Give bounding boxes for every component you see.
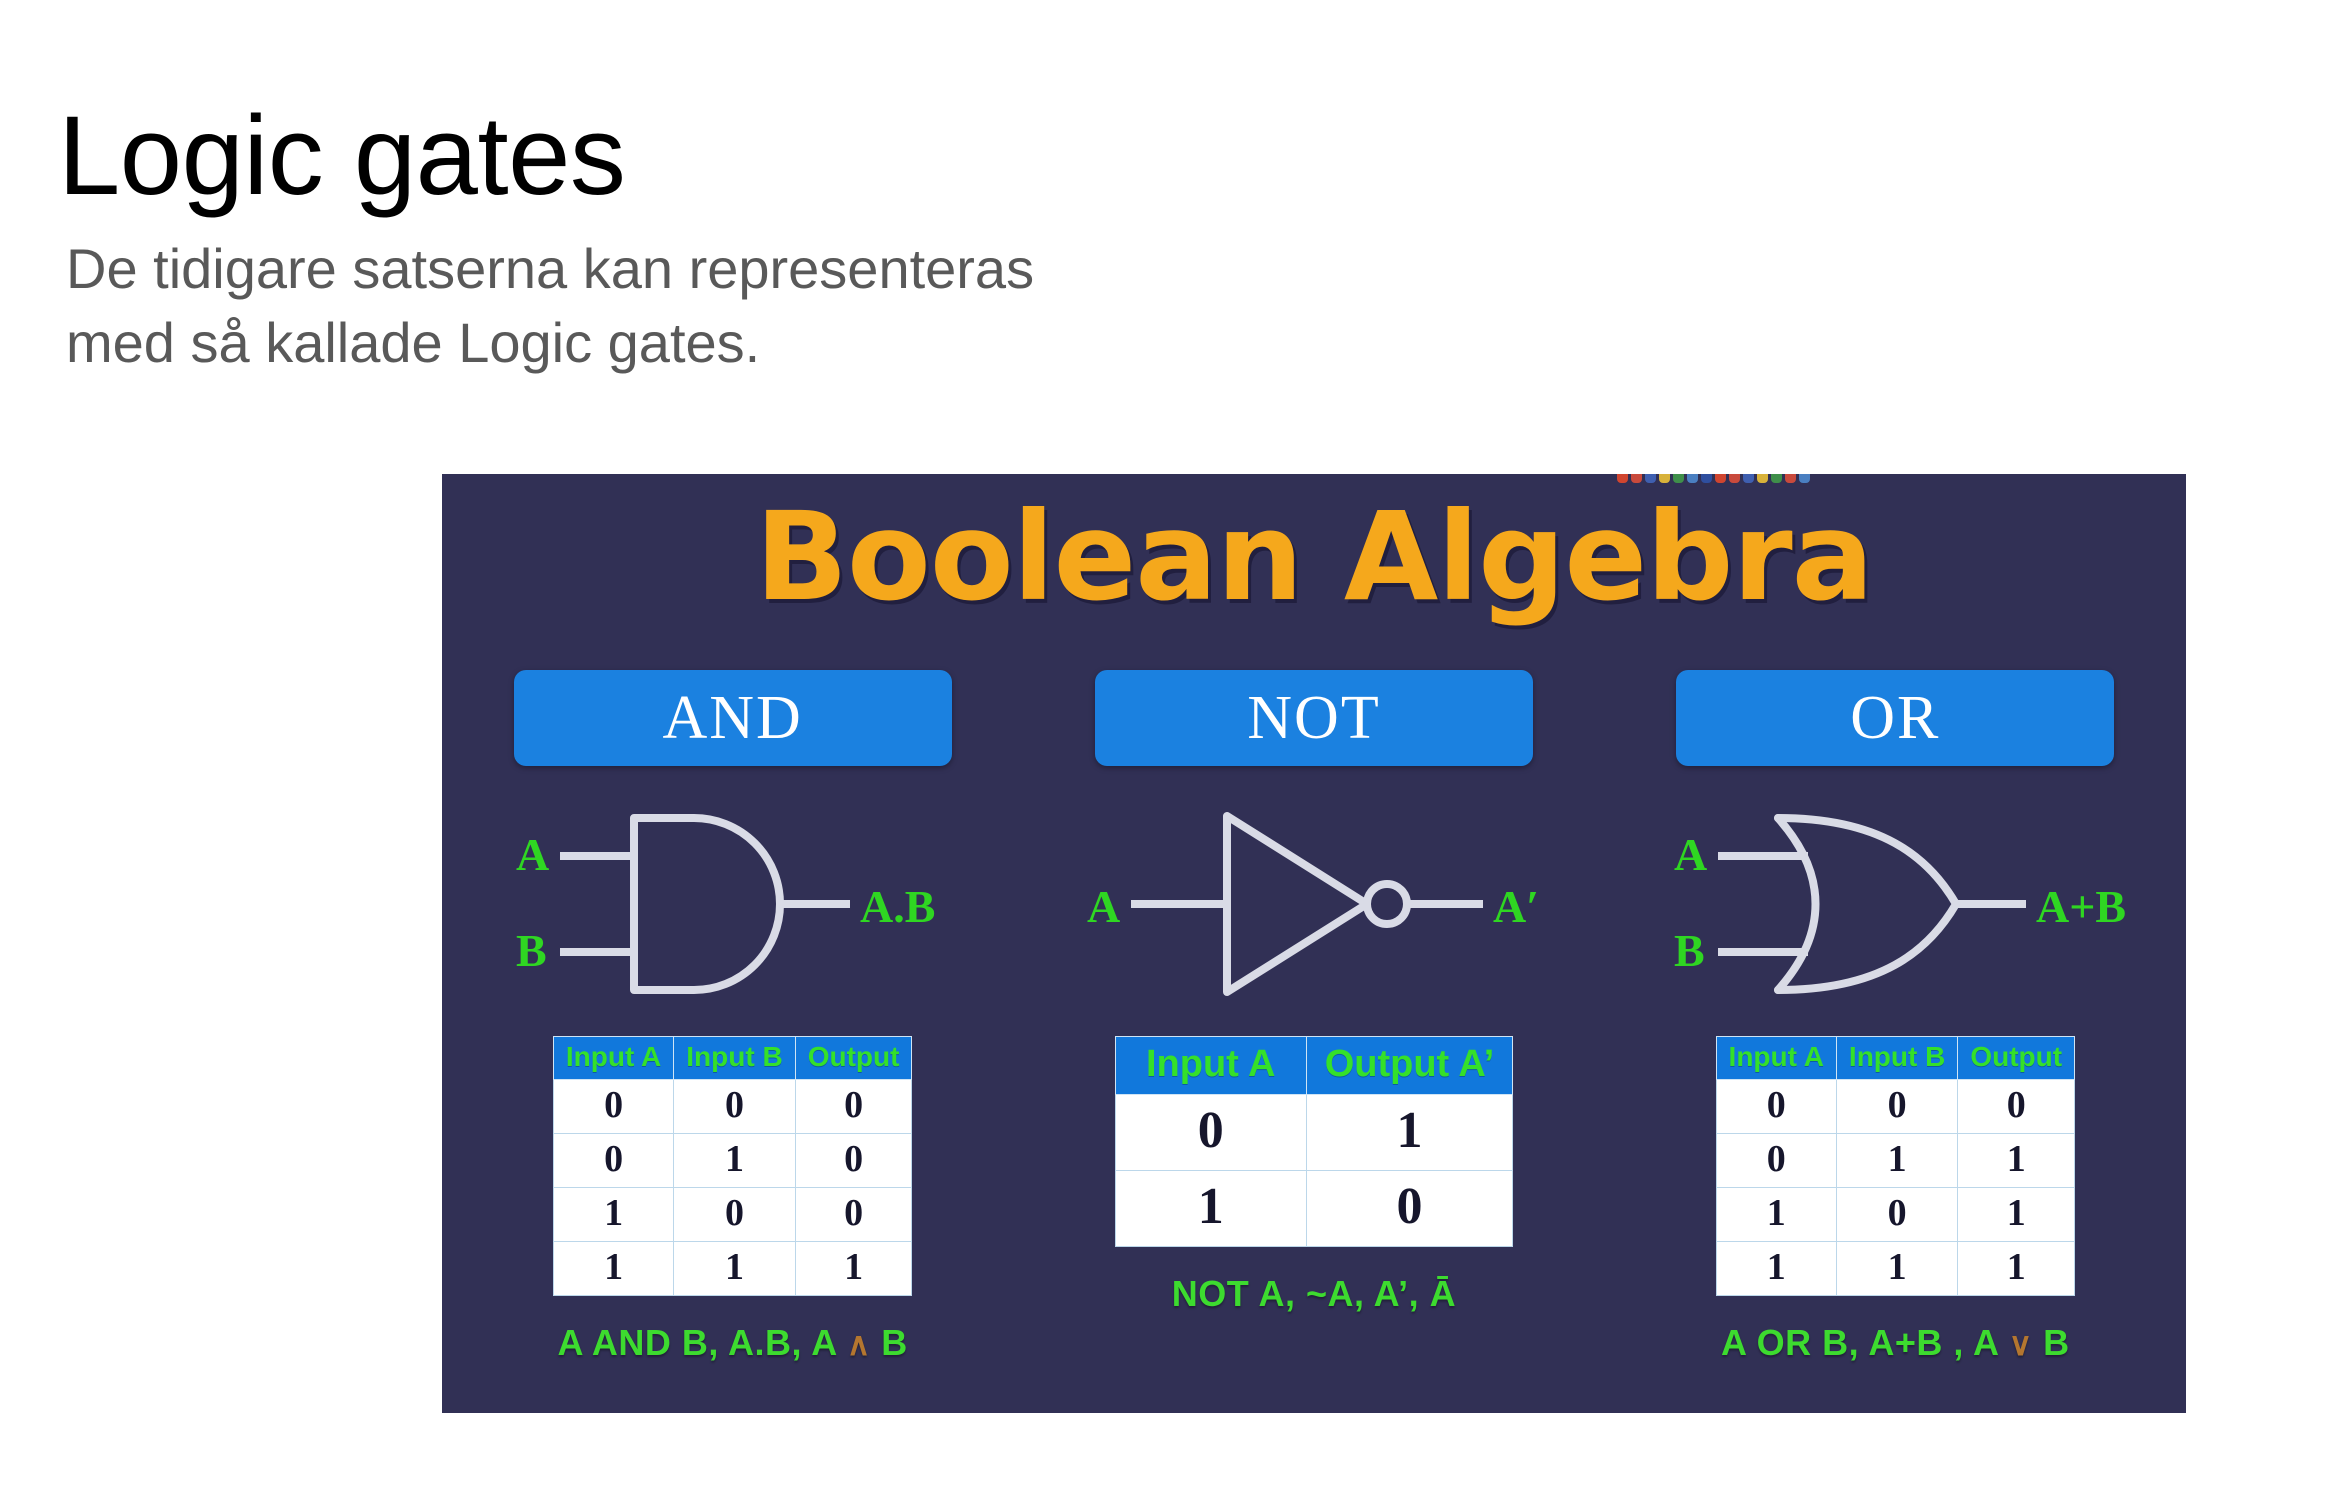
cell: 0 [1836, 1188, 1957, 1242]
table-row: 1 0 1 [1716, 1188, 2075, 1242]
cell: 0 [1716, 1080, 1836, 1134]
cell: 1 [1716, 1242, 1836, 1296]
or-truth-table: Input A Input B Output 0 0 0 0 [1716, 1036, 2076, 1296]
cell: 1 [1958, 1188, 2075, 1242]
table-header-row: Input A Output A’ [1115, 1037, 1513, 1095]
subtitle-line-2: med så kallade Logic gates. [66, 306, 1034, 380]
not-gate-diagram: A A′ [1079, 804, 1549, 1004]
cell: 1 [1306, 1095, 1513, 1171]
table-row: 1 0 [1115, 1171, 1513, 1247]
cell: 0 [1115, 1095, 1306, 1171]
cell: 1 [1958, 1134, 2075, 1188]
cell: 1 [553, 1188, 673, 1242]
cell: 0 [1958, 1080, 2075, 1134]
cell: 0 [795, 1188, 912, 1242]
table-header-row: Input A Input B Output [553, 1037, 912, 1080]
table-header-row: Input A Input B Output [1716, 1037, 2075, 1080]
gate-column-or: OR A B A+B Input A [1605, 670, 2186, 1413]
not-input-a-label: A [1087, 881, 1120, 932]
caption-prefix: NOT A, ~A, A’, Ā [1172, 1273, 1456, 1314]
column-header: Input B [1836, 1037, 1957, 1080]
and-input-a-label: A [516, 829, 549, 880]
column-header: Output [1958, 1037, 2075, 1080]
cell: 0 [553, 1080, 673, 1134]
not-output-label: A′ [1493, 881, 1539, 932]
cell: 0 [674, 1188, 795, 1242]
and-gate-diagram: A B A.B [498, 804, 968, 1004]
gate-columns: AND A B A.B Input A Inpu [442, 670, 2186, 1413]
image-top-artifact-strip [1617, 474, 1947, 483]
gate-label-and: AND [514, 670, 952, 766]
and-gate-caption: A AND B, A.B, A ∧ B [558, 1322, 908, 1364]
column-header: Input A [1716, 1037, 1836, 1080]
table-row: 0 1 [1115, 1095, 1513, 1171]
caption-prefix: A OR B, A+B , A [1721, 1322, 2009, 1363]
and-input-b-label: B [516, 925, 547, 976]
cell: 1 [674, 1134, 795, 1188]
caption-operator: ∧ [847, 1326, 871, 1362]
gate-label-not: NOT [1095, 670, 1533, 766]
or-gate-diagram: A B A+B [1660, 804, 2130, 1004]
gate-label-or: OR [1676, 670, 2114, 766]
not-gate-caption: NOT A, ~A, A’, Ā [1172, 1273, 1456, 1315]
image-title: Boolean Algebra [442, 496, 2186, 618]
boolean-algebra-image: Boolean Algebra AND A B A.B [442, 474, 2186, 1413]
column-header: Input B [674, 1037, 795, 1080]
or-input-b-label: B [1674, 925, 1705, 976]
or-truth-table-wrap: Input A Input B Output 0 0 0 0 [1716, 1036, 2076, 1296]
cell: 0 [674, 1080, 795, 1134]
cell: 1 [1836, 1242, 1957, 1296]
not-truth-table-wrap: Input A Output A’ 0 1 1 0 [1115, 1036, 1514, 1247]
or-output-label: A+B [2036, 881, 2126, 932]
table-row: 0 0 0 [553, 1080, 912, 1134]
caption-suffix: B [871, 1322, 908, 1363]
cell: 0 [1306, 1171, 1513, 1247]
cell: 0 [553, 1134, 673, 1188]
caption-prefix: A AND B, A.B, A [558, 1322, 847, 1363]
cell: 1 [1716, 1188, 1836, 1242]
slide-subtitle: De tidigare satserna kan representeras m… [66, 232, 1034, 380]
column-header: Input A [553, 1037, 673, 1080]
and-truth-table-wrap: Input A Input B Output 0 0 0 0 [553, 1036, 913, 1296]
column-header: Output [795, 1037, 912, 1080]
and-output-label: A.B [860, 881, 935, 932]
subtitle-line-1: De tidigare satserna kan representeras [66, 232, 1034, 306]
table-row: 1 1 1 [553, 1242, 912, 1296]
cell: 0 [795, 1134, 912, 1188]
not-truth-table: Input A Output A’ 0 1 1 0 [1115, 1036, 1514, 1247]
and-truth-table: Input A Input B Output 0 0 0 0 [553, 1036, 913, 1296]
or-gate-caption: A OR B, A+B , A ∨ B [1721, 1322, 2070, 1364]
cell: 1 [553, 1242, 673, 1296]
table-row: 0 1 0 [553, 1134, 912, 1188]
column-header: Output A’ [1306, 1037, 1513, 1095]
caption-suffix: B [2033, 1322, 2070, 1363]
cell: 1 [1115, 1171, 1306, 1247]
or-input-a-label: A [1674, 829, 1707, 880]
table-row: 0 0 0 [1716, 1080, 2075, 1134]
table-row: 1 1 1 [1716, 1242, 2075, 1296]
cell: 1 [795, 1242, 912, 1296]
cell: 1 [674, 1242, 795, 1296]
cell: 1 [1958, 1242, 2075, 1296]
caption-operator: ∨ [2009, 1326, 2033, 1362]
gate-column-and: AND A B A.B Input A Inpu [442, 670, 1023, 1413]
cell: 0 [795, 1080, 912, 1134]
column-header: Input A [1115, 1037, 1306, 1095]
cell: 0 [1836, 1080, 1957, 1134]
cell: 0 [1716, 1134, 1836, 1188]
table-row: 1 0 0 [553, 1188, 912, 1242]
cell: 1 [1836, 1134, 1957, 1188]
page-title: Logic gates [58, 93, 625, 218]
gate-column-not: NOT A A′ Input A Output A’ [1023, 670, 1604, 1413]
table-row: 0 1 1 [1716, 1134, 2075, 1188]
